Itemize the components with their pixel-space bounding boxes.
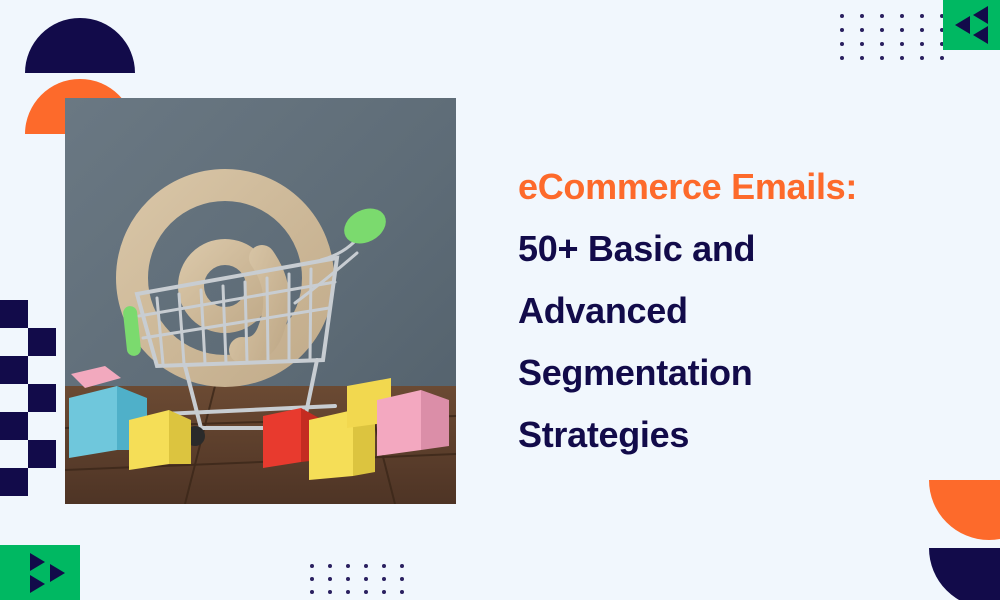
semicircle-navy-bottom-right <box>929 548 1000 600</box>
checker-cell <box>0 300 28 328</box>
dot <box>860 42 864 46</box>
headline-line-4: Segmentation <box>518 342 958 404</box>
dot <box>328 564 332 568</box>
triangle-right-icon <box>50 564 65 582</box>
dot <box>364 564 368 568</box>
dot <box>364 577 368 581</box>
dot <box>880 14 884 18</box>
checker-cell <box>28 328 56 356</box>
dot <box>382 564 386 568</box>
dot <box>840 28 844 32</box>
dot <box>400 577 404 581</box>
dot <box>328 577 332 581</box>
headline-line-3: Advanced <box>518 280 958 342</box>
headline-line-2: 50+ Basic and <box>518 218 958 280</box>
checker-cell <box>0 412 28 440</box>
dot <box>346 577 350 581</box>
checker-cell <box>0 356 28 384</box>
checker-cell <box>0 468 28 496</box>
dot <box>900 14 904 18</box>
dot <box>880 28 884 32</box>
headline: eCommerce Emails: 50+ Basic and Advanced… <box>518 156 958 466</box>
headline-line-5: Strategies <box>518 404 958 466</box>
checker-cell <box>28 440 56 468</box>
dot <box>860 28 864 32</box>
dot <box>840 14 844 18</box>
poster-canvas: eCommerce Emails: 50+ Basic and Advanced… <box>0 0 1000 600</box>
dot <box>400 564 404 568</box>
dot <box>900 56 904 60</box>
checkerboard-pattern-left <box>0 300 56 476</box>
dot <box>310 564 314 568</box>
checker-cell <box>28 384 56 412</box>
badge-bottom-left <box>0 545 80 600</box>
dot <box>880 56 884 60</box>
dot <box>920 56 924 60</box>
badge-top-right <box>943 0 1000 50</box>
dot <box>840 56 844 60</box>
dot <box>382 577 386 581</box>
dot <box>364 590 368 594</box>
semicircle-orange-bottom-right <box>929 480 1000 540</box>
dot <box>840 42 844 46</box>
dot <box>940 56 944 60</box>
dot <box>900 42 904 46</box>
dot <box>310 577 314 581</box>
triangle-right-icon <box>30 575 45 593</box>
dot <box>328 590 332 594</box>
dot <box>346 590 350 594</box>
headline-line-1: eCommerce Emails: <box>518 156 958 218</box>
hero-photo <box>65 98 456 504</box>
dot <box>900 28 904 32</box>
dot <box>310 590 314 594</box>
dot <box>880 42 884 46</box>
dot <box>920 28 924 32</box>
dot <box>382 590 386 594</box>
dot <box>346 564 350 568</box>
dot <box>920 14 924 18</box>
semicircle-navy-top-left <box>25 18 135 73</box>
dot <box>860 56 864 60</box>
dot-grid-top-right <box>840 14 960 70</box>
dot <box>400 590 404 594</box>
dot <box>860 14 864 18</box>
triangle-right-icon <box>30 553 45 571</box>
triangle-left-icon <box>973 6 988 24</box>
triangle-left-icon <box>973 26 988 44</box>
shopping-cart-illustration <box>65 98 456 504</box>
triangle-left-icon <box>955 16 970 34</box>
dot-grid-bottom-center <box>310 564 418 600</box>
dot <box>920 42 924 46</box>
